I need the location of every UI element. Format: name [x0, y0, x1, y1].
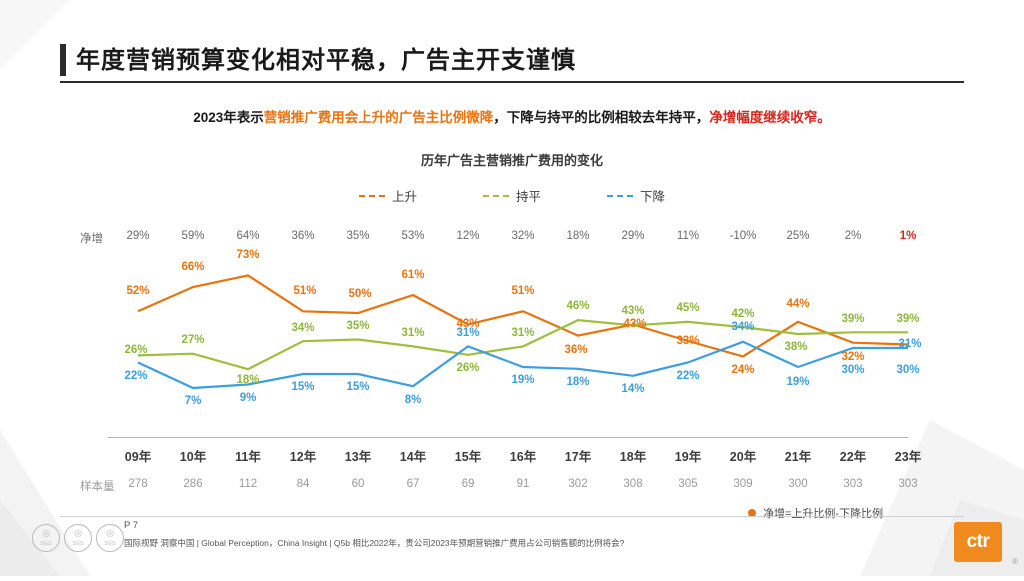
badge-symbol: ◎: [42, 529, 50, 538]
slide: 年度营销预算变化相对平稳，广告主开支谨慎 2023年表示营销推广费用会上升的广告…: [0, 0, 1024, 576]
point-label-down: 22%: [676, 370, 699, 382]
sample-size-value: 286: [163, 478, 223, 490]
sample-size-value: 278: [108, 478, 168, 490]
point-label-flat: 43%: [621, 305, 644, 317]
subtitle-part1: 2023年表示: [193, 110, 264, 125]
point-label-up: 52%: [126, 285, 149, 297]
page-number: P 7: [124, 520, 138, 531]
point-label-up: 44%: [786, 298, 809, 310]
point-label-flat: 31%: [401, 327, 424, 339]
point-label-down: 15%: [291, 381, 314, 393]
point-label-up: 36%: [564, 344, 587, 356]
point-label-flat: 27%: [181, 334, 204, 346]
sample-size-value: 303: [878, 478, 938, 490]
legend-item-flat[interactable]: 持平: [483, 186, 541, 205]
legend-label-down: 下降: [640, 186, 665, 205]
x-tick-label: 22年: [823, 446, 883, 465]
sgs-badge-icon: ◎ SGS: [96, 524, 124, 552]
x-tick-label: 14年: [383, 446, 443, 465]
sample-size-value: 300: [768, 478, 828, 490]
point-label-down: 8%: [405, 394, 422, 406]
point-label-down: 18%: [566, 376, 589, 388]
point-label-flat: 39%: [841, 313, 864, 325]
sample-size-value: 69: [438, 478, 498, 490]
point-label-up: 32%: [841, 351, 864, 363]
net-growth-row: 净增 29% 59% 64% 36% 35% 53% 12% 32% 18% 2…: [0, 230, 1024, 248]
sgs-badge-icon: ◎ SGS: [64, 524, 92, 552]
point-label-down: 14%: [621, 383, 644, 395]
subtitle-highlight1: 营销推广费用会上升的广告主比例微降: [264, 110, 494, 125]
net-growth-value: 35%: [328, 230, 388, 242]
point-label-down: 30%: [896, 364, 919, 376]
point-label-flat: 18%: [236, 374, 259, 386]
sample-size-value: 309: [713, 478, 773, 490]
net-growth-value: 29%: [603, 230, 663, 242]
badge-text: SGS: [104, 541, 115, 547]
subtitle-highlight2: 净增幅度继续收窄。: [709, 110, 831, 125]
point-label-flat: 34%: [291, 322, 314, 334]
net-growth-value: 29%: [108, 230, 168, 242]
point-label-down: 34%: [731, 321, 754, 333]
badge-text: SGS: [72, 541, 83, 547]
net-growth-value: -10%: [713, 230, 773, 242]
title-block: 年度营销预算变化相对平稳，广告主开支谨慎: [60, 40, 964, 83]
x-tick-label: 20年: [713, 446, 773, 465]
point-label-flat: 39%: [896, 313, 919, 325]
point-label-up: 61%: [401, 269, 424, 281]
point-label-flat: 26%: [124, 344, 147, 356]
x-tick-label: 23年: [878, 446, 938, 465]
sample-size-row: 样本量 278 286 112 84 60 67 69 91 302 308 3…: [0, 478, 1024, 496]
point-label-up: 24%: [731, 364, 754, 376]
net-growth-value: 18%: [548, 230, 608, 242]
point-label-flat: 42%: [731, 308, 754, 320]
point-label-up: 51%: [511, 285, 534, 297]
point-label-down: 31%: [456, 327, 479, 339]
chart-title: 历年广告主营销推广费用的变化: [0, 150, 1024, 169]
logo-registered-mark: ®: [1012, 557, 1018, 566]
x-tick-label: 11年: [218, 446, 278, 465]
subtitle: 2023年表示营销推广费用会上升的广告主比例微降，下降与持平的比例相较去年持平，…: [0, 106, 1024, 126]
point-label-down: 15%: [346, 381, 369, 393]
x-axis-labels: 09年 10年 11年 12年 13年 14年 15年 16年 17年 18年 …: [0, 446, 1024, 466]
badge-symbol: ◎: [106, 529, 114, 538]
ctr-logo: ctr: [954, 522, 1002, 562]
certification-badges: ◎ SGS ◎ SGS ◎ SGS: [32, 524, 124, 552]
point-label-flat: 26%: [456, 362, 479, 374]
net-growth-value-current: 1%: [878, 230, 938, 242]
point-label-up: 73%: [236, 249, 259, 261]
sample-size-value: 308: [603, 478, 663, 490]
badge-text: SGS: [40, 541, 51, 547]
sample-size-value: 84: [273, 478, 333, 490]
net-growth-value: 25%: [768, 230, 828, 242]
footer-note: 国际视野 洞察中国 | Global Perception，China Insi…: [124, 537, 624, 549]
net-growth-value: 53%: [383, 230, 443, 242]
title-accent-bar: [60, 44, 66, 76]
point-label-flat: 31%: [511, 327, 534, 339]
x-tick-label: 16年: [493, 446, 553, 465]
legend-item-down[interactable]: 下降: [607, 186, 665, 205]
point-label-down: 7%: [185, 395, 202, 407]
x-tick-label: 15年: [438, 446, 498, 465]
sample-size-value: 91: [493, 478, 553, 490]
x-tick-label: 19年: [658, 446, 718, 465]
net-growth-value: 59%: [163, 230, 223, 242]
x-tick-label: 12年: [273, 446, 333, 465]
point-label-up: 43%: [623, 318, 646, 330]
subtitle-part2: ，下降与持平的比例相较去年持平，: [493, 110, 709, 125]
sample-size-value: 305: [658, 478, 718, 490]
point-label-flat: 38%: [784, 341, 807, 353]
sgs-badge-icon: ◎ SGS: [32, 524, 60, 552]
chart-legend: 上升 持平 下降: [0, 186, 1024, 205]
point-label-down: 30%: [841, 364, 864, 376]
sample-size-value: 67: [383, 478, 443, 490]
point-label-down: 9%: [240, 392, 257, 404]
legend-label-flat: 持平: [516, 186, 541, 205]
sample-size-value: 60: [328, 478, 388, 490]
x-axis-line: [108, 437, 908, 438]
point-label-up-last: 31%: [898, 338, 921, 350]
net-growth-value: 36%: [273, 230, 333, 242]
chart-plot-area: 52% 66% 73% 51% 50% 61% 43% 51% 36% 43% …: [108, 258, 928, 438]
point-label-flat: 45%: [676, 302, 699, 314]
x-tick-label: 09年: [108, 446, 168, 465]
legend-label-up: 上升: [392, 186, 417, 205]
sample-size-value: 302: [548, 478, 608, 490]
net-growth-value: 32%: [493, 230, 553, 242]
net-growth-label: 净增: [80, 230, 103, 246]
point-label-up: 66%: [181, 261, 204, 273]
point-label-up: 50%: [348, 288, 371, 300]
point-label-down: 22%: [124, 370, 147, 382]
x-tick-label: 17年: [548, 446, 608, 465]
point-label-up: 51%: [293, 285, 316, 297]
net-growth-value: 64%: [218, 230, 278, 242]
page-title: 年度营销预算变化相对平稳，广告主开支谨慎: [76, 40, 964, 75]
net-growth-value: 12%: [438, 230, 498, 242]
x-tick-label: 18年: [603, 446, 663, 465]
legend-dash-icon: [359, 195, 385, 197]
legend-dash-icon: [607, 195, 633, 197]
x-tick-label: 10年: [163, 446, 223, 465]
x-tick-label: 13年: [328, 446, 388, 465]
footnote-legend-text: 净增=上升比例-下降比例: [763, 505, 883, 521]
sample-size-value: 303: [823, 478, 883, 490]
badge-symbol: ◎: [74, 529, 82, 538]
point-label-flat: 35%: [346, 320, 369, 332]
legend-dash-icon: [483, 195, 509, 197]
point-label-up: 33%: [676, 335, 699, 347]
footer-divider: [60, 516, 964, 517]
point-label-down: 19%: [786, 376, 809, 388]
point-label-down: 19%: [511, 374, 534, 386]
point-label-flat: 46%: [566, 300, 589, 312]
footnote-legend: 净增=上升比例-下降比例: [748, 505, 883, 521]
net-growth-value: 2%: [823, 230, 883, 242]
x-tick-label: 21年: [768, 446, 828, 465]
net-growth-value: 11%: [658, 230, 718, 242]
legend-item-up[interactable]: 上升: [359, 186, 417, 205]
sample-size-value: 112: [218, 478, 278, 490]
